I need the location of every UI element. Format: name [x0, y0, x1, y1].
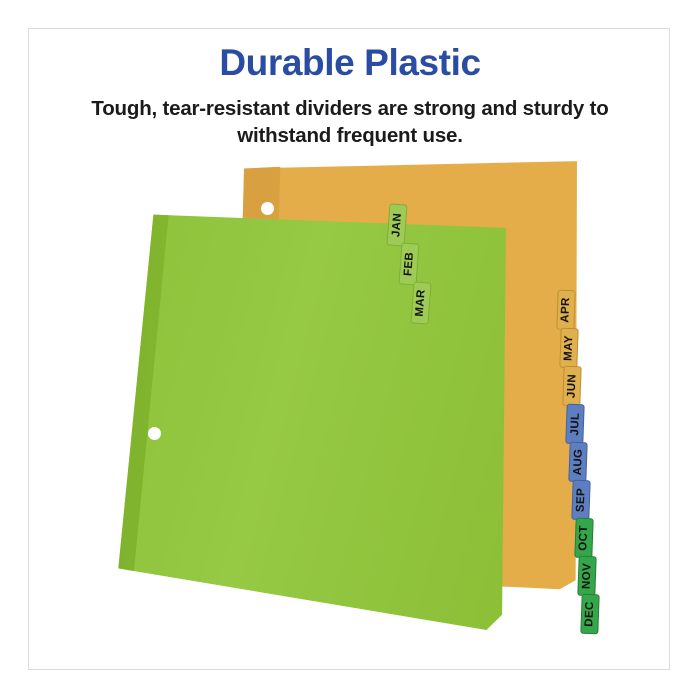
- tab-jun-label: JUN: [566, 374, 579, 399]
- tab-may: MAY: [559, 328, 578, 369]
- front-divider-punch-hole-middle: [148, 427, 161, 440]
- tab-jan: JAN: [386, 203, 407, 246]
- page-title: Durable Plastic: [0, 44, 700, 83]
- product-feature-image: Durable Plastic Tough, tear-resistant di…: [0, 0, 700, 700]
- tab-jun: JUN: [562, 366, 581, 407]
- front-divider-punch-hole-top: [126, 278, 139, 291]
- tab-feb: FEB: [398, 242, 419, 285]
- tab-oct: OCT: [574, 518, 593, 559]
- tab-may-label: MAY: [563, 335, 576, 361]
- back-divider-punch-hole: [261, 202, 274, 215]
- tab-feb-label: FEB: [402, 251, 416, 276]
- tab-mar-label: MAR: [414, 289, 428, 317]
- tab-nov: NOV: [577, 556, 596, 597]
- tab-jan-label: JAN: [390, 212, 404, 237]
- tab-sep-label: SEP: [575, 488, 588, 513]
- tab-aug: AUG: [568, 442, 587, 483]
- tab-apr: APR: [556, 290, 575, 331]
- tab-nov-label: NOV: [581, 563, 594, 590]
- tab-mar: MAR: [410, 281, 431, 324]
- tab-apr-label: APR: [560, 297, 573, 323]
- tab-dec-label: DEC: [584, 601, 597, 627]
- front-divider-sheet: [116, 212, 506, 652]
- tab-aug-label: AUG: [572, 448, 585, 475]
- page-subtitle: Tough, tear-resistant dividers are stron…: [60, 95, 640, 149]
- front-divider-punch-hole-bottom: [177, 591, 190, 604]
- tab-dec: DEC: [580, 594, 599, 635]
- product-photo: APR MAY JUN JUL AUG SEP OCT NOV DEC: [30, 150, 670, 655]
- tab-oct-label: OCT: [578, 525, 591, 551]
- tab-jul-label: JUL: [569, 412, 582, 435]
- tab-sep: SEP: [571, 480, 590, 521]
- tab-jul: JUL: [565, 404, 584, 445]
- headline-block: Durable Plastic Tough, tear-resistant di…: [0, 44, 700, 149]
